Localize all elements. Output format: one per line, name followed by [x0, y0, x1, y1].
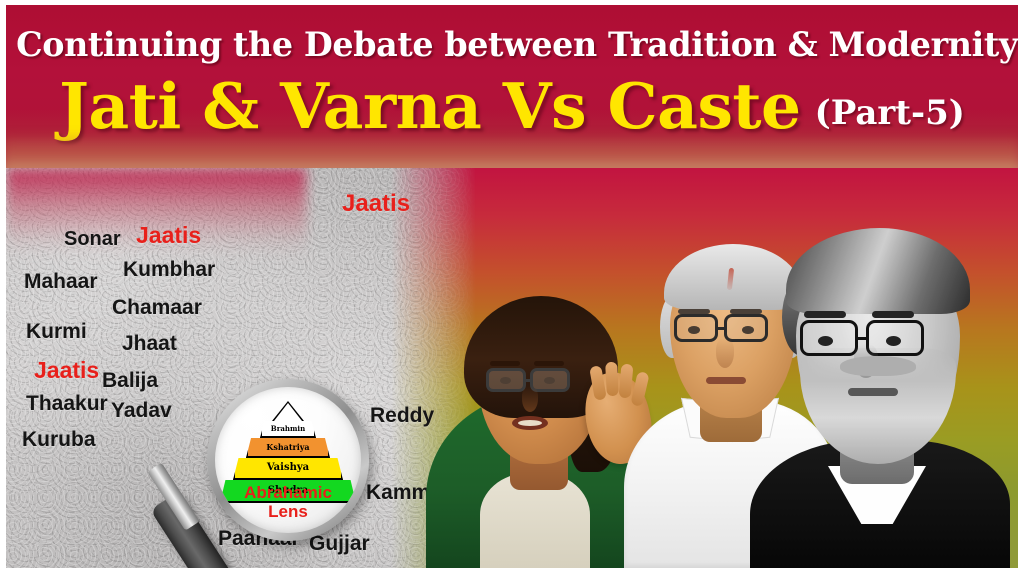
eyebrow-right	[872, 311, 914, 318]
pyramid-apex	[272, 401, 304, 421]
portrait-group	[406, 168, 1018, 568]
jaati-name-label: Gujjar	[309, 532, 370, 556]
lens-caption: Abrahamic Lens	[215, 483, 361, 522]
finger	[605, 362, 619, 397]
eyeglass-lens-left	[486, 368, 526, 392]
eyebrow-left	[804, 311, 846, 318]
jaati-name-label: Balija	[102, 369, 158, 393]
jaati-name-label: Kurmi	[26, 320, 87, 344]
mouth	[848, 388, 898, 396]
jaati-name-label: Thaakur	[26, 392, 108, 416]
pyramid-tier-vaishya: Vaishya	[233, 458, 343, 480]
mouth	[706, 377, 746, 384]
banner-subtitle: Continuing the Debate between Tradition …	[16, 25, 1008, 65]
hair	[786, 228, 970, 314]
varna-pyramid: Brahmin Kshatriya Vaishya Shudra	[225, 401, 351, 495]
banner-part-label: (Part-5)	[815, 96, 965, 130]
pyramid-tier-kshatriya: Kshatriya	[246, 438, 330, 458]
pyramid-tier-label: Vaishya	[267, 463, 309, 473]
magnifier-lens: Brahmin Kshatriya Vaishya Shudra Abraham…	[215, 387, 361, 533]
jaati-name-label: Jhaat	[122, 332, 177, 356]
eyeglass-lens-left	[800, 320, 858, 356]
portrait-man-right	[744, 168, 1016, 568]
eyeglass-bridge	[718, 327, 726, 330]
pyramid-tier-brahmin: Brahmin	[260, 421, 316, 438]
eyebrow-right	[534, 361, 564, 366]
title-banner: Continuing the Debate between Tradition …	[6, 5, 1018, 173]
moustache	[840, 356, 916, 376]
jaatis-tag-label: Jaatis	[34, 357, 99, 384]
pyramid-tier-label: Brahmin	[271, 425, 305, 432]
jaati-name-label: Sonar	[64, 228, 121, 251]
lens-caption-line1: Abrahamic	[215, 483, 361, 502]
jaati-name-label: Kuruba	[22, 428, 96, 452]
jaatis-tag-label: Jaatis	[342, 190, 410, 218]
banner-title: Jati & Varna Vs Caste	[59, 75, 800, 138]
video-thumbnail: Continuing the Debate between Tradition …	[0, 0, 1024, 576]
eyeglass-bridge	[526, 379, 532, 382]
eyeglass-lens-left	[674, 314, 718, 342]
nose	[522, 386, 538, 412]
jaati-name-label: Chamaar	[112, 296, 202, 320]
jaati-name-label: Mahaar	[24, 270, 98, 294]
pyramid-tier-label: Kshatriya	[266, 443, 309, 451]
lens-caption-line2: Lens	[215, 502, 361, 521]
banner-title-row: Jati & Varna Vs Caste (Part-5)	[6, 75, 1018, 138]
scene: SonarMahaarKumbharChamaarKurmiJhaatBalij…	[6, 168, 1018, 568]
eyebrow-left	[490, 361, 520, 366]
nose	[716, 338, 734, 368]
eyeglass-bridge	[857, 337, 867, 340]
teeth	[518, 420, 542, 426]
jaati-name-label: Yadav	[111, 399, 172, 423]
jaati-name-label: Kumbhar	[123, 258, 215, 282]
jaatis-tag-label: Jaatis	[136, 222, 201, 249]
